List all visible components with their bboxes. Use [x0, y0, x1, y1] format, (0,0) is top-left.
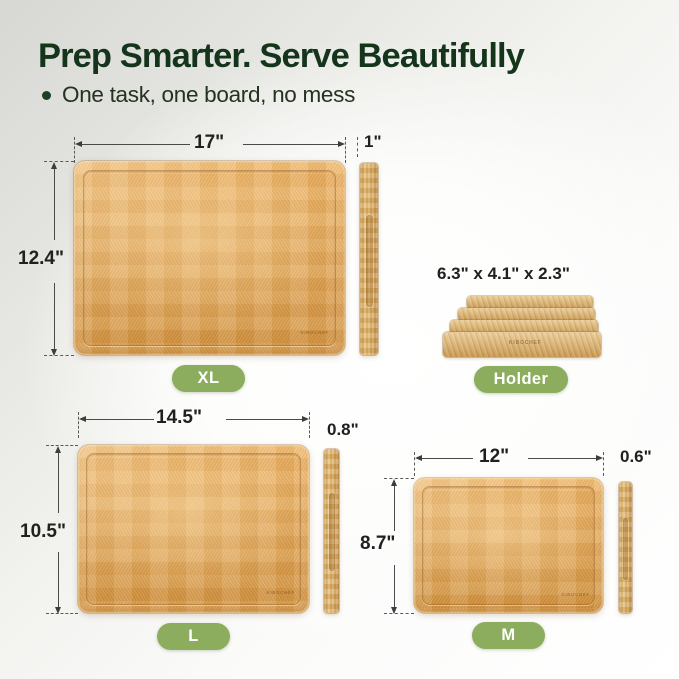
m-brand-engraving: KIBOCHEF	[561, 592, 590, 597]
m-height-arrow-top	[391, 479, 397, 486]
m-witness-right	[603, 452, 604, 476]
m-height-label: 8.7"	[360, 533, 395, 555]
m-witness-top	[384, 478, 414, 479]
m-size-pill: M	[472, 622, 545, 649]
l-width-line-left	[84, 419, 154, 420]
l-height-line-bottom	[58, 552, 59, 607]
product-infographic: Prep Smarter. Serve Beautifully One task…	[0, 0, 679, 679]
xl-height-line-bottom	[54, 283, 55, 349]
l-witness-bottom	[46, 613, 78, 614]
xl-height-label: 12.4"	[18, 248, 64, 270]
l-witness-top	[46, 445, 78, 446]
xl-height-arrow-top	[51, 162, 57, 169]
xl-witness-top	[44, 161, 74, 162]
l-height-arrow-top	[55, 446, 61, 453]
l-width-arrow-left	[79, 416, 86, 422]
m-width-line-right	[528, 458, 597, 459]
xl-thickness-label: 1"	[364, 132, 382, 152]
m-height-line-top	[394, 484, 395, 531]
m-height-arrow-bottom	[391, 607, 397, 614]
xl-width-line-left	[80, 144, 190, 145]
l-height-line-top	[58, 451, 59, 513]
l-width-label: 14.5"	[156, 407, 202, 429]
subtitle-row: One task, one board, no mess	[42, 82, 355, 108]
holder-dimensions-label: 6.3" x 4.1" x 2.3"	[437, 264, 570, 284]
xl-width-label: 17"	[194, 132, 224, 154]
m-witness-bottom	[384, 613, 414, 614]
xl-handle-slot	[366, 215, 373, 307]
xl-height-line-top	[54, 167, 55, 240]
m-height-line-bottom	[394, 565, 395, 607]
xl-witness-bottom	[44, 355, 74, 356]
xl-width-arrow-left	[75, 141, 82, 147]
l-brand-engraving: KIBOCHEF	[266, 590, 295, 595]
l-board-side-view	[324, 449, 339, 613]
xl-witness-right	[345, 137, 346, 163]
l-size-pill: L	[157, 623, 230, 650]
l-height-label: 10.5"	[20, 521, 66, 543]
l-height-arrow-bottom	[55, 607, 61, 614]
holder-brand-engraving: KIBOCHEF	[509, 340, 542, 346]
l-width-arrow-right	[302, 416, 309, 422]
l-width-line-right	[226, 419, 303, 420]
l-witness-right	[309, 412, 310, 438]
m-handle-slot	[623, 518, 628, 580]
xl-size-pill: XL	[172, 365, 245, 392]
m-thickness-label: 0.6"	[620, 447, 652, 467]
bullet-dot-icon	[42, 91, 51, 100]
l-board-top-view: KIBOCHEF	[78, 445, 309, 613]
xl-width-line-right	[243, 144, 339, 145]
m-width-arrow-right	[596, 455, 603, 461]
l-handle-slot	[329, 493, 335, 571]
m-width-label: 12"	[479, 446, 509, 468]
m-board-top-view: KIBOCHEF	[414, 478, 603, 613]
holder-size-pill: Holder	[474, 366, 568, 393]
m-board-side-view	[619, 482, 632, 613]
xl-width-arrow-right	[338, 141, 345, 147]
holder-stack: KIBOCHEF	[443, 296, 603, 358]
xl-board-side-view	[360, 163, 378, 355]
page-subtitle: One task, one board, no mess	[62, 82, 355, 108]
l-thickness-label: 0.8"	[327, 420, 359, 440]
xl-edge-highlight	[74, 161, 345, 355]
m-width-arrow-left	[415, 455, 422, 461]
xl-height-arrow-bottom	[51, 349, 57, 356]
page-headline: Prep Smarter. Serve Beautifully	[38, 37, 524, 76]
xl-brand-engraving: KIBOCHEF	[300, 330, 329, 335]
l-edge-highlight	[78, 445, 309, 613]
xl-board-top-view: KIBOCHEF	[74, 161, 345, 355]
m-width-line-left	[420, 458, 473, 459]
xl-thickness-witness	[357, 137, 358, 157]
